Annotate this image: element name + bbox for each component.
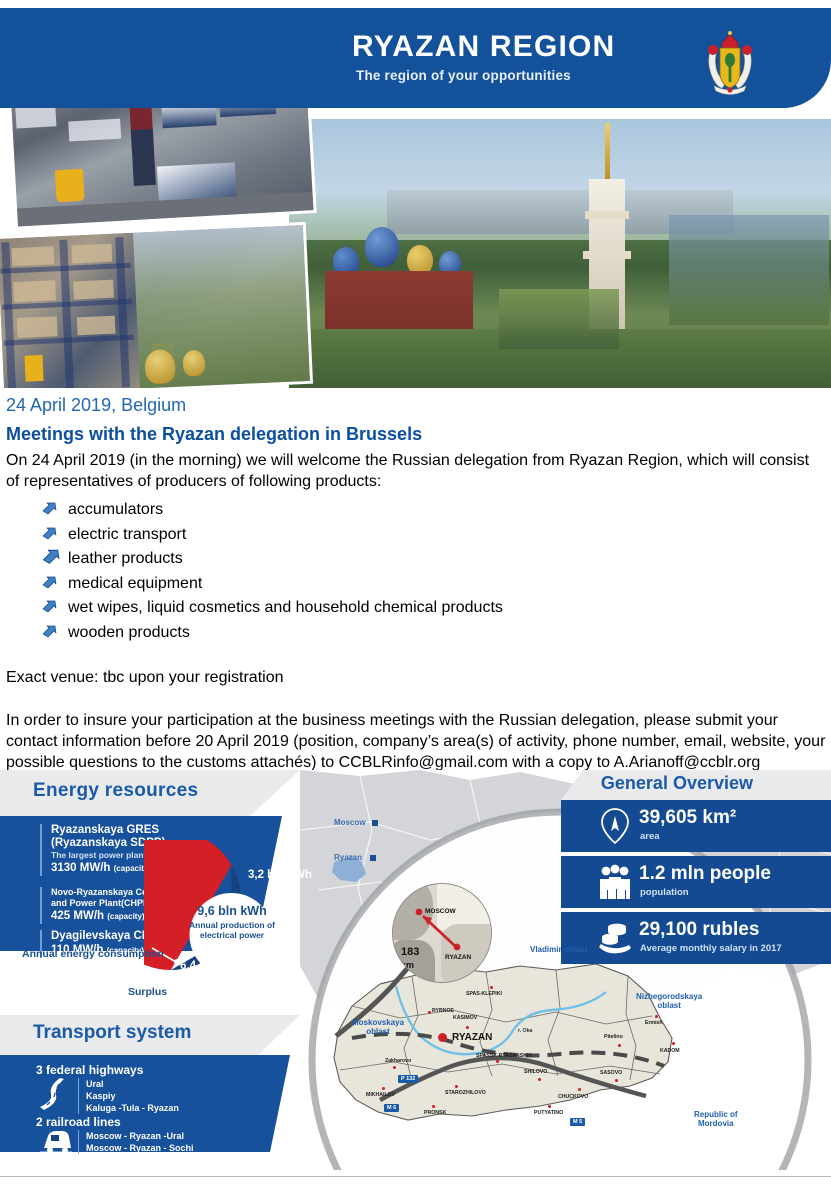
river-label-oka: r. Oka (518, 1028, 532, 1034)
stat-salary: 29,100 rubles Average monthly salary in … (561, 912, 831, 964)
railroad-lines-heading: 2 railroad lines (36, 1115, 121, 1129)
article-intro: On 24 April 2019 (in the morning) we wil… (6, 450, 826, 492)
blue-arrow-bullet-icon (42, 576, 60, 591)
highway-item: Kaluga -Tula - Ryazan (86, 1102, 179, 1114)
city-label-sasovo: SASOVO (600, 1070, 622, 1076)
railroad-item: Moscow - Ryazan -Ural (86, 1130, 194, 1142)
inset-distance-unit: km (401, 960, 414, 970)
list-item: electric transport (42, 523, 826, 548)
federal-highways-heading: 3 federal highways (36, 1063, 143, 1077)
city-label-mikhailov: MIKHAILOV (366, 1092, 395, 1098)
banner-subtitle: The region of your opportunities (356, 68, 571, 83)
inset-distance-value: 183 (401, 946, 419, 958)
product-label: medical equipment (68, 575, 202, 592)
neighbour-label-vladimir: Vladimir oblast (530, 945, 587, 954)
donut-center-value: 9,6 bln kWh (169, 904, 295, 918)
inset-ryazan-label: RYAZAN (445, 954, 471, 961)
overview-panel-title: General Overview (601, 773, 753, 794)
article-headline: Meetings with the Ryazan delegation in B… (6, 420, 826, 448)
city-label-starozhilovo: STAROZHILOVO (445, 1090, 486, 1096)
energy-panel-title: Energy resources (33, 780, 198, 802)
product-label: wet wipes, liquid cosmetics and househol… (68, 599, 503, 616)
people-icon (597, 863, 633, 901)
city-label-ryazan: RYAZAN (452, 1032, 492, 1043)
list-item: accumulators (42, 498, 826, 523)
city-label-putyatino: PUTYATINO (534, 1110, 563, 1116)
warehouse-logistics-photo (0, 222, 313, 388)
product-list: accumulators electric transport leather … (6, 498, 826, 645)
product-label: wooden products (68, 624, 190, 641)
neighbour-label-mordovia: Republic ofMordovia (694, 1110, 738, 1128)
transport-panel-title: Transport system (33, 1022, 191, 1044)
money-hand-icon (597, 919, 633, 957)
page-bottom-rule (0, 1176, 831, 1177)
city-label-shilovo: SHILOVO (524, 1069, 547, 1075)
blue-arrow-bullet-icon (42, 600, 60, 615)
railroad-list: Moscow - Ryazan -Ural Moscow - Ryazan - … (78, 1130, 194, 1154)
city-label-kasimov: KASIMOV (453, 1015, 477, 1021)
city-label-kadom: KADOM (660, 1048, 680, 1054)
product-label: leather products (68, 550, 183, 567)
surplus-label: Surplus (128, 986, 167, 998)
city-label-pronsk: PRONSK (424, 1110, 446, 1116)
russia-map-ryazan-label: Ryazan (334, 853, 362, 862)
stat-caption: Average monthly salary in 2017 (640, 943, 782, 954)
product-label: electric transport (68, 526, 186, 543)
highway-road-icon (38, 1078, 72, 1112)
map-pin-icon (597, 807, 633, 845)
ryazan-region-banner: RYAZAN REGION The region of your opportu… (0, 8, 831, 108)
stat-value: 1.2 mln people (639, 863, 771, 885)
consumption-value-label: 6,4 bln kWh (180, 960, 244, 972)
product-label: accumulators (68, 501, 163, 518)
russia-map-moscow-label: Moscow (334, 818, 366, 827)
city-label-rybnoe: RYBNOE (432, 1008, 454, 1014)
highway-item: Kaspiy (86, 1090, 179, 1102)
neighbour-label-nizhegorodskaya: Nizhegorodskayaoblast (636, 992, 702, 1010)
neighbour-label-moskovskaya: Moskovskayaoblast (352, 1018, 404, 1036)
city-label-pitelino: Pitelino (604, 1034, 623, 1040)
list-item: wooden products (42, 621, 826, 646)
ryazan-infographic: Energy resources Ryazanskaya GRES(Ryazan… (0, 770, 831, 1170)
blue-arrow-bullet-icon (42, 549, 64, 567)
list-item: wet wipes, liquid cosmetics and househol… (42, 596, 826, 621)
donut-center-caption: Annual production ofelectrical power (169, 920, 295, 940)
registration-note: In order to insure your participation at… (6, 710, 826, 773)
list-item: medical equipment (42, 572, 826, 597)
list-item: leather products (42, 547, 826, 572)
stat-value: 29,100 rubles (639, 919, 759, 941)
highway-list: Ural Kaspiy Kaluga -Tula - Ryazan (78, 1078, 179, 1114)
road-shield-m5: M 5 (570, 1118, 585, 1126)
stat-caption: area (640, 831, 660, 842)
city-label-spas-klepiki: SPAS-KLEPIKI (466, 991, 502, 997)
annual-consumption-label: Annual energy consumption (22, 948, 164, 960)
blue-arrow-bullet-icon (42, 527, 60, 542)
ryazan-coat-of-arms (700, 30, 760, 98)
city-label-spassk-ryazanskiy: SPASSK-RYAZANSKIY (476, 1053, 532, 1059)
article-body: 24 April 2019, Belgium Meetings with the… (6, 392, 826, 773)
blue-arrow-bullet-icon (42, 625, 60, 640)
distance-inset-map: MOSCOW RYAZAN 183 km (392, 883, 492, 983)
russia-map-moscow-dot (372, 820, 378, 826)
stat-area: 39,605 km² area (561, 800, 831, 852)
city-label-zakharovo: Zakharovo (385, 1058, 411, 1064)
surplus-value-label: 3,2 bln kWh (248, 869, 312, 881)
highway-item: Ural (86, 1078, 179, 1090)
ryazan-kremlin-city-photo (286, 116, 831, 388)
stat-caption: population (640, 887, 689, 898)
train-icon (38, 1128, 74, 1154)
stat-value: 39,605 km² (639, 807, 736, 829)
road-shield-m6: M 6 (384, 1104, 399, 1112)
stat-population: 1.2 mln people population (561, 856, 831, 908)
russia-map-ryazan-dot (370, 855, 376, 861)
banner-title: RYAZAN REGION (352, 30, 615, 64)
city-label-ermish: Ermish (645, 1020, 663, 1026)
inset-moscow-label: MOSCOW (425, 908, 456, 915)
venue-note: Exact venue: tbc upon your registration (6, 667, 826, 688)
blue-arrow-bullet-icon (42, 502, 60, 517)
city-label-chuckovo: CHUCKOVO (558, 1094, 588, 1100)
railroad-item: Moscow - Ryazan - Sochi (86, 1142, 194, 1154)
article-kicker: 24 April 2019, Belgium (6, 392, 826, 418)
road-shield-p132: P 132 (398, 1075, 418, 1083)
